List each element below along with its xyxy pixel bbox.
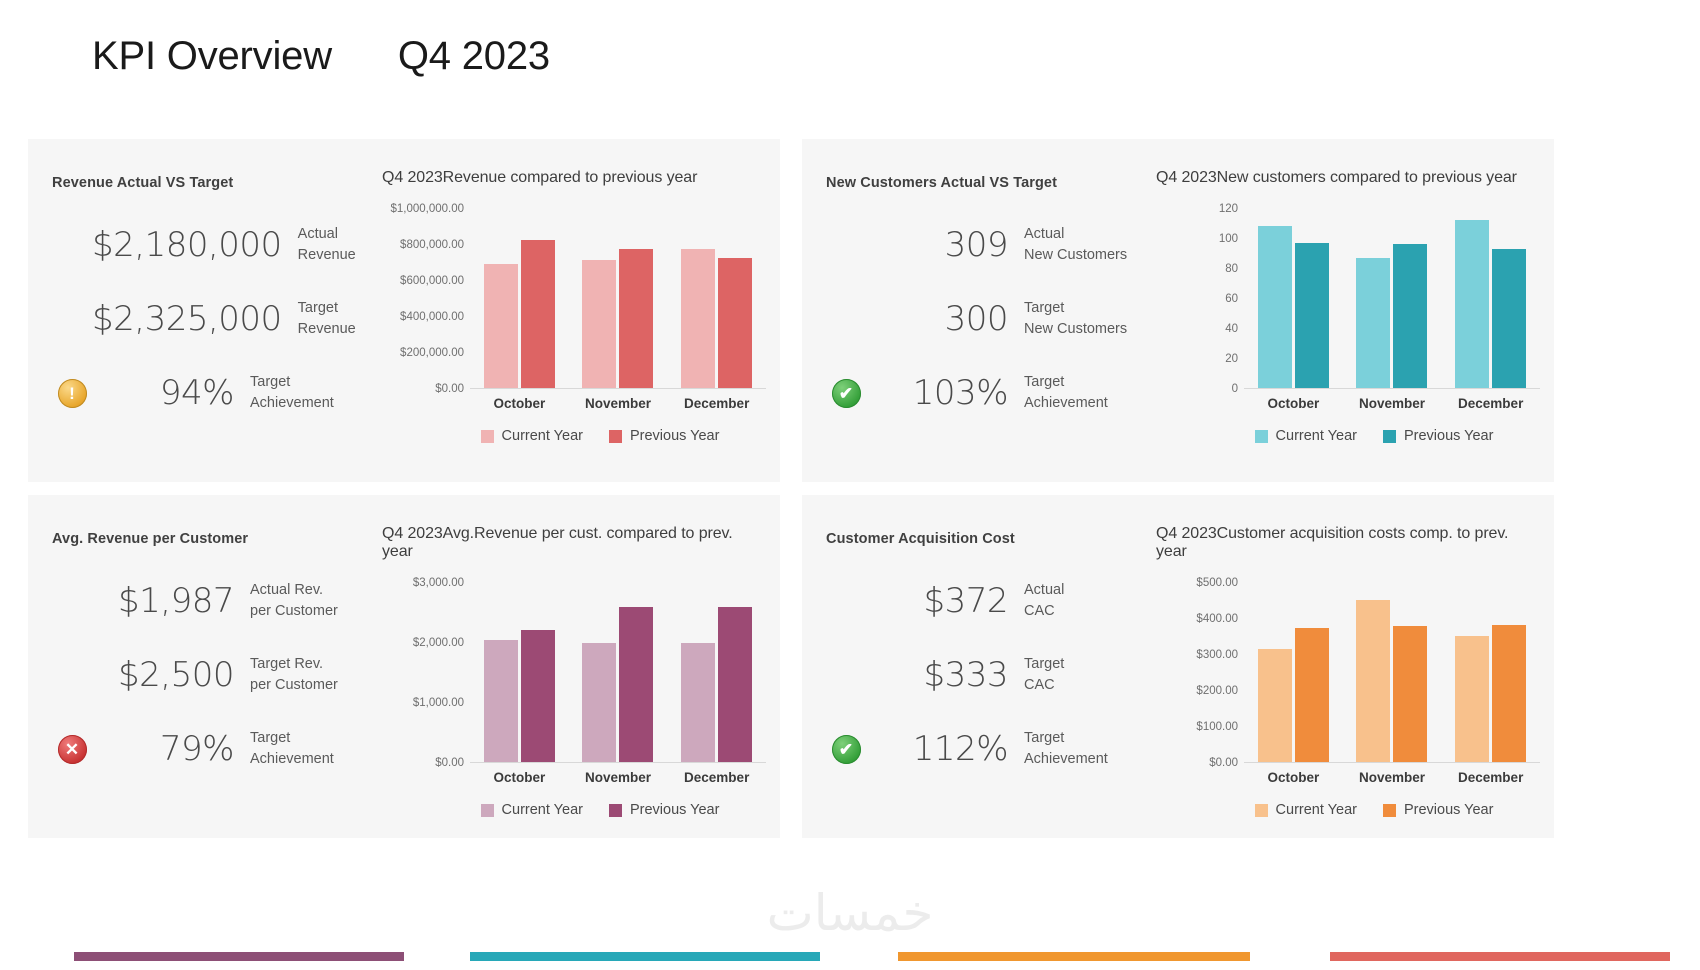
chart-title: Q4 2023New customers compared to previou… <box>1148 169 1540 187</box>
watermark: خمسات <box>767 884 934 942</box>
y-axis-tick-label: $600,000.00 <box>400 275 464 287</box>
x-axis-tick-label: November <box>1343 770 1442 785</box>
x-axis-tick-label: November <box>569 396 668 411</box>
bar-group <box>1356 209 1427 388</box>
bar-plot <box>1244 209 1540 389</box>
status-ok-icon: ✔ <box>832 379 861 408</box>
y-axis-tick-label: 0 <box>1232 383 1238 395</box>
bar-current-year <box>681 643 715 762</box>
y-axis: $0.00$100.00$200.00$300.00$400.00$500.00 <box>1148 583 1244 763</box>
y-axis-tick-label: $400.00 <box>1196 613 1238 625</box>
y-axis-tick-label: 20 <box>1225 353 1238 365</box>
kpi-pane: Revenue Actual VS Target$2,180,000Actual… <box>28 139 368 482</box>
x-axis-tick-label: October <box>1244 396 1343 411</box>
legend-label: Current Year <box>502 428 583 444</box>
bar-group <box>582 209 653 388</box>
bar-previous-year <box>1295 628 1329 762</box>
y-axis: 020406080100120 <box>1148 209 1244 389</box>
kpi-metric-row: 309ActualNew Customers <box>826 218 1142 272</box>
bar-group <box>484 209 555 388</box>
bar-previous-year <box>521 240 555 388</box>
kpi-label: Actual Rev.per Customer <box>250 580 368 621</box>
y-axis-tick-label: 120 <box>1219 203 1238 215</box>
legend-item[interactable]: Current Year <box>1255 428 1357 444</box>
bar-previous-year <box>1492 249 1526 389</box>
x-axis: OctoberNovemberDecember <box>470 396 766 411</box>
kpi-value: $2,180,000 <box>92 225 298 265</box>
bar-group <box>1258 209 1329 388</box>
bottom-strip <box>898 952 1250 961</box>
kpi-status-slot: ✕ <box>52 735 92 764</box>
bar-plot <box>470 209 766 389</box>
status-warning-icon: ! <box>58 379 87 408</box>
status-ok-icon: ✔ <box>832 735 861 764</box>
x-axis-tick-label: November <box>569 770 668 785</box>
kpi-label: TargetAchievement <box>250 372 368 413</box>
kpi-value: $1,987 <box>92 581 250 621</box>
kpi-label: ActualCAC <box>1024 580 1142 621</box>
kpi-value: 112% <box>866 729 1024 769</box>
chart-legend: Current YearPrevious Year <box>374 428 766 444</box>
bar-current-year <box>1356 600 1390 762</box>
bar-current-year <box>582 643 616 762</box>
x-axis-tick-label: October <box>470 770 569 785</box>
x-axis-tick-label: October <box>470 396 569 411</box>
y-axis-tick-label: $1,000.00 <box>413 697 464 709</box>
y-axis: $0.00$200,000.00$400,000.00$600,000.00$8… <box>374 209 470 389</box>
y-axis-tick-label: 80 <box>1225 263 1238 275</box>
y-axis-tick-label: $300.00 <box>1196 649 1238 661</box>
legend-swatch-current-year <box>1255 804 1268 817</box>
kpi-rows: 309ActualNew Customers300TargetNew Custo… <box>826 218 1142 420</box>
x-axis: OctoberNovemberDecember <box>1244 396 1540 411</box>
kpi-value: 300 <box>866 299 1024 339</box>
kpi-metric-row: $2,180,000ActualRevenue <box>52 218 368 272</box>
kpi-value: $2,325,000 <box>92 299 298 339</box>
kpi-heading: Customer Acquisition Cost <box>826 531 1142 547</box>
legend-item[interactable]: Previous Year <box>1383 802 1493 818</box>
kpi-value: $333 <box>866 655 1024 695</box>
chart-pane: Q4 2023New customers compared to previou… <box>1142 139 1554 482</box>
kpi-label: TargetAchievement <box>250 728 368 769</box>
x-axis-tick-label: November <box>1343 396 1442 411</box>
kpi-label: TargetAchievement <box>1024 372 1142 413</box>
legend-label: Current Year <box>502 802 583 818</box>
y-axis-tick-label: $0.00 <box>1209 757 1238 769</box>
kpi-metric-row: $372ActualCAC <box>826 574 1142 628</box>
kpi-pane: Customer Acquisition Cost$372ActualCAC$3… <box>802 495 1142 838</box>
y-axis-tick-label: $800,000.00 <box>400 239 464 251</box>
x-axis-tick-label: December <box>667 396 766 411</box>
kpi-metric-row: 300TargetNew Customers <box>826 292 1142 346</box>
legend-item[interactable]: Current Year <box>481 802 583 818</box>
kpi-label: TargetCAC <box>1024 654 1142 695</box>
bar-previous-year <box>521 630 555 762</box>
chart-pane: Q4 2023Avg.Revenue per cust. compared to… <box>368 495 780 838</box>
legend-item[interactable]: Previous Year <box>609 802 719 818</box>
bar-previous-year <box>1492 625 1526 762</box>
kpi-card: New Customers Actual VS Target309ActualN… <box>802 139 1554 482</box>
legend-label: Current Year <box>1276 428 1357 444</box>
kpi-value: $372 <box>866 581 1024 621</box>
kpi-label: TargetNew Customers <box>1024 298 1142 339</box>
bar-previous-year <box>1393 626 1427 762</box>
page-period: Q4 2023 <box>398 34 550 79</box>
kpi-value: $2,500 <box>92 655 250 695</box>
bar-group <box>1455 583 1526 762</box>
bar-group <box>1356 583 1427 762</box>
y-axis-tick-label: $100.00 <box>1196 721 1238 733</box>
kpi-metric-row: ✔112%TargetAchievement <box>826 722 1142 776</box>
y-axis-tick-label: $200,000.00 <box>400 347 464 359</box>
legend-item[interactable]: Previous Year <box>1383 428 1493 444</box>
y-axis-tick-label: $0.00 <box>435 383 464 395</box>
kpi-pane: Avg. Revenue per Customer$1,987Actual Re… <box>28 495 368 838</box>
chart-title: Q4 2023Revenue compared to previous year <box>374 169 766 187</box>
legend-swatch-previous-year <box>609 430 622 443</box>
chart-title: Q4 2023Customer acquisition costs comp. … <box>1148 525 1540 561</box>
plot-area: $0.00$1,000.00$2,000.00$3,000.00 <box>374 583 766 763</box>
bar-previous-year <box>1393 244 1427 388</box>
kpi-rows: $372ActualCAC$333TargetCAC✔112%TargetAch… <box>826 574 1142 776</box>
kpi-status-slot: ✔ <box>826 735 866 764</box>
bar-current-year <box>1455 220 1489 388</box>
x-axis-tick-label: December <box>1441 770 1540 785</box>
kpi-card: Customer Acquisition Cost$372ActualCAC$3… <box>802 495 1554 838</box>
legend-label: Previous Year <box>630 428 719 444</box>
kpi-rows: $2,180,000ActualRevenue$2,325,000TargetR… <box>52 218 368 420</box>
y-axis-tick-label: $400,000.00 <box>400 311 464 323</box>
kpi-value: 79% <box>92 729 250 769</box>
plot-area: $0.00$100.00$200.00$300.00$400.00$500.00 <box>1148 583 1540 763</box>
status-error-icon: ✕ <box>58 735 87 764</box>
kpi-heading: Avg. Revenue per Customer <box>52 531 368 547</box>
legend-swatch-current-year <box>481 430 494 443</box>
legend-item[interactable]: Current Year <box>1255 802 1357 818</box>
kpi-heading: New Customers Actual VS Target <box>826 175 1142 191</box>
chart-legend: Current YearPrevious Year <box>1148 802 1540 818</box>
plot-area: $0.00$200,000.00$400,000.00$600,000.00$8… <box>374 209 766 389</box>
kpi-card-grid: Revenue Actual VS Target$2,180,000Actual… <box>28 139 1672 838</box>
bar-group <box>681 209 752 388</box>
x-axis: OctoberNovemberDecember <box>1244 770 1540 785</box>
bar-current-year <box>1258 226 1292 388</box>
bar-current-year <box>1258 649 1292 762</box>
kpi-metric-row: $333TargetCAC <box>826 648 1142 702</box>
y-axis-tick-label: 60 <box>1225 293 1238 305</box>
y-axis-tick-label: 100 <box>1219 233 1238 245</box>
y-axis-tick-label: $500.00 <box>1196 577 1238 589</box>
legend-label: Current Year <box>1276 802 1357 818</box>
chart-legend: Current YearPrevious Year <box>374 802 766 818</box>
kpi-value: 309 <box>866 225 1024 265</box>
chart-title: Q4 2023Avg.Revenue per cust. compared to… <box>374 525 766 561</box>
x-axis-tick-label: December <box>1441 396 1540 411</box>
y-axis-tick-label: $200.00 <box>1196 685 1238 697</box>
legend-label: Previous Year <box>1404 428 1493 444</box>
bar-current-year <box>1455 636 1489 762</box>
legend-label: Previous Year <box>1404 802 1493 818</box>
kpi-status-slot: ! <box>52 379 92 408</box>
bar-previous-year <box>718 607 752 762</box>
kpi-status-slot: ✔ <box>826 379 866 408</box>
kpi-metric-row: $1,987Actual Rev.per Customer <box>52 574 368 628</box>
legend-swatch-current-year <box>481 804 494 817</box>
kpi-label: ActualNew Customers <box>1024 224 1142 265</box>
legend-label: Previous Year <box>630 802 719 818</box>
kpi-value: 103% <box>866 373 1024 413</box>
bottom-strip <box>74 952 404 961</box>
plot-area: 020406080100120 <box>1148 209 1540 389</box>
x-axis-tick-label: December <box>667 770 766 785</box>
kpi-metric-row: !94%TargetAchievement <box>52 366 368 420</box>
bar-group <box>1258 583 1329 762</box>
bar-group <box>1455 209 1526 388</box>
bar-group <box>484 583 555 762</box>
page-header: KPI Overview Q4 2023 <box>92 34 550 79</box>
bar-current-year <box>1356 258 1390 389</box>
kpi-label: TargetAchievement <box>1024 728 1142 769</box>
x-axis-tick-label: October <box>1244 770 1343 785</box>
legend-item[interactable]: Previous Year <box>609 428 719 444</box>
legend-swatch-previous-year <box>609 804 622 817</box>
legend-swatch-current-year <box>1255 430 1268 443</box>
bar-current-year <box>582 260 616 388</box>
bar-previous-year <box>619 249 653 389</box>
bar-current-year <box>484 640 518 762</box>
bar-previous-year <box>1295 243 1329 389</box>
chart-pane: Q4 2023Customer acquisition costs comp. … <box>1142 495 1554 838</box>
y-axis-tick-label: $2,000.00 <box>413 637 464 649</box>
bar-previous-year <box>619 607 653 762</box>
bar-current-year <box>681 249 715 389</box>
bar-group <box>582 583 653 762</box>
bottom-strip <box>1330 952 1670 961</box>
kpi-rows: $1,987Actual Rev.per Customer$2,500Targe… <box>52 574 368 776</box>
page-title: KPI Overview <box>92 34 332 79</box>
bar-plot <box>470 583 766 763</box>
kpi-value: 94% <box>92 373 250 413</box>
y-axis: $0.00$1,000.00$2,000.00$3,000.00 <box>374 583 470 763</box>
kpi-pane: New Customers Actual VS Target309ActualN… <box>802 139 1142 482</box>
kpi-card: Revenue Actual VS Target$2,180,000Actual… <box>28 139 780 482</box>
bottom-strip <box>470 952 820 961</box>
y-axis-tick-label: $0.00 <box>435 757 464 769</box>
bar-plot <box>1244 583 1540 763</box>
bar-current-year <box>484 264 518 388</box>
kpi-metric-row: $2,500Target Rev.per Customer <box>52 648 368 702</box>
legend-swatch-previous-year <box>1383 804 1396 817</box>
bar-group <box>681 583 752 762</box>
kpi-heading: Revenue Actual VS Target <box>52 175 368 191</box>
legend-item[interactable]: Current Year <box>481 428 583 444</box>
kpi-card: Avg. Revenue per Customer$1,987Actual Re… <box>28 495 780 838</box>
bottom-color-strips <box>0 952 1700 964</box>
y-axis-tick-label: 40 <box>1225 323 1238 335</box>
kpi-metric-row: ✔103%TargetAchievement <box>826 366 1142 420</box>
y-axis-tick-label: $3,000.00 <box>413 577 464 589</box>
chart-pane: Q4 2023Revenue compared to previous year… <box>368 139 780 482</box>
kpi-metric-row: ✕79%TargetAchievement <box>52 722 368 776</box>
legend-swatch-previous-year <box>1383 430 1396 443</box>
chart-legend: Current YearPrevious Year <box>1148 428 1540 444</box>
x-axis: OctoberNovemberDecember <box>470 770 766 785</box>
kpi-metric-row: $2,325,000TargetRevenue <box>52 292 368 346</box>
kpi-label: Target Rev.per Customer <box>250 654 368 695</box>
dashboard-page: KPI Overview Q4 2023 Revenue Actual VS T… <box>0 0 1700 970</box>
y-axis-tick-label: $1,000,000.00 <box>390 203 464 215</box>
bar-previous-year <box>718 258 752 388</box>
